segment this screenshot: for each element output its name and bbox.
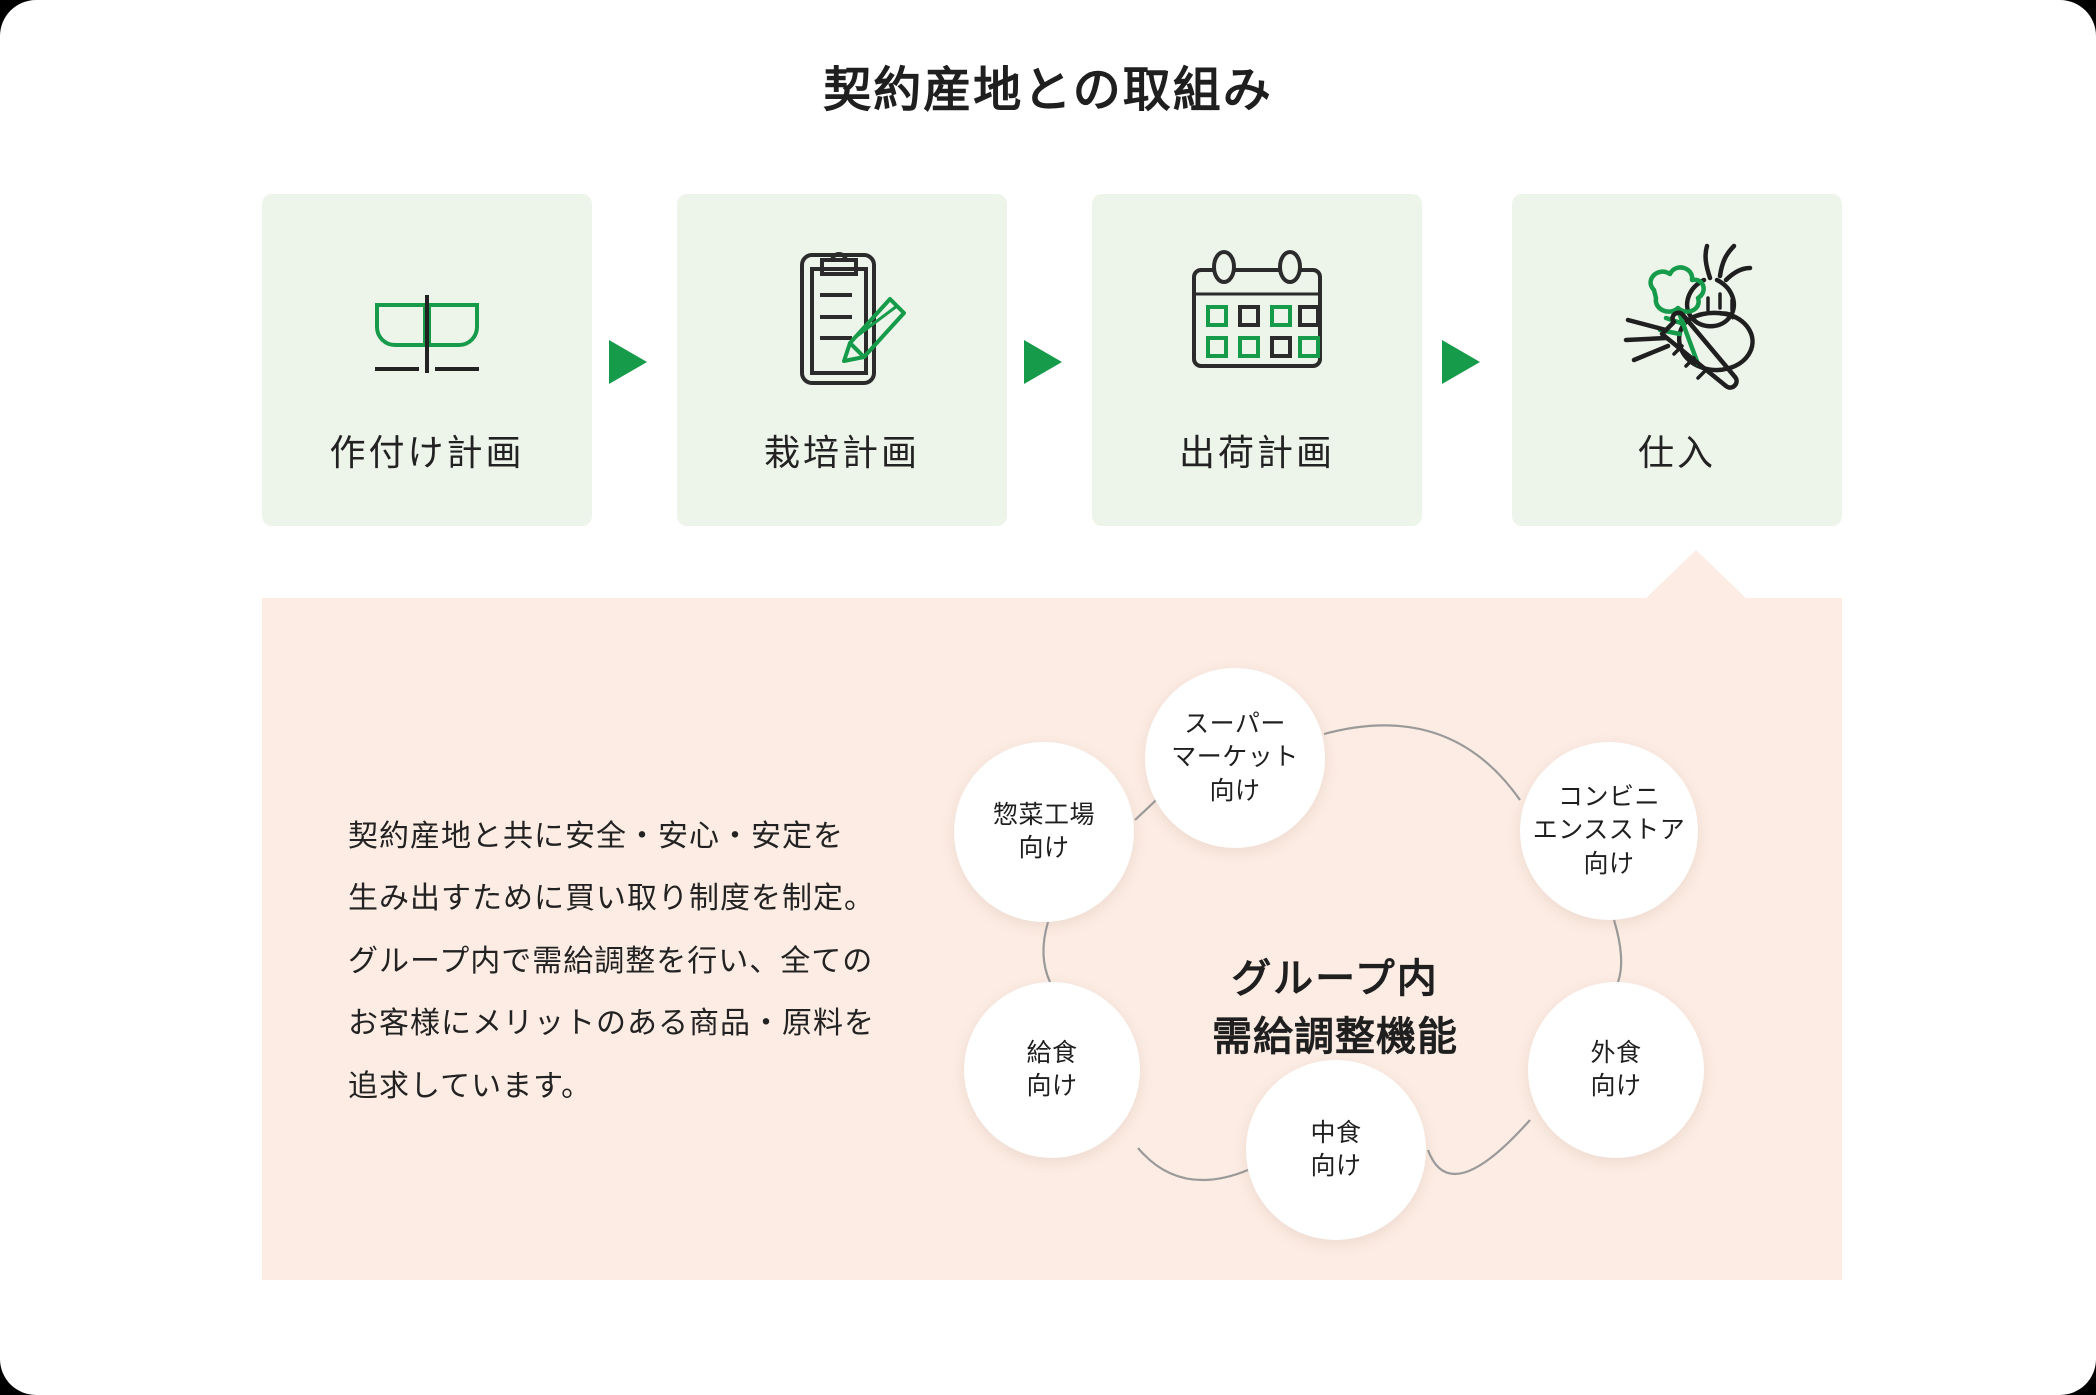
diagram-node-school-lunch[interactable]: 給食 向け bbox=[964, 982, 1140, 1158]
node-line: エンスストア bbox=[1533, 814, 1686, 848]
body-line: 契約産地と共に安全・安心・安定を bbox=[348, 806, 888, 868]
step-card-planting-plan[interactable]: 作付け計画 bbox=[262, 194, 592, 526]
node-line: スーパー bbox=[1171, 708, 1299, 742]
node-line: 給食 bbox=[1026, 1037, 1077, 1071]
node-line: 中食 bbox=[1310, 1117, 1361, 1151]
node-line: 外食 bbox=[1590, 1037, 1641, 1071]
panel-pointer-notch bbox=[1644, 550, 1748, 600]
node-line: マーケット bbox=[1171, 741, 1299, 775]
node-line: 向け bbox=[1026, 1070, 1077, 1104]
arrow-right-icon bbox=[1440, 338, 1482, 386]
diagram-node-supermarket[interactable]: スーパー マーケット 向け bbox=[1145, 668, 1325, 848]
sprout-icon bbox=[262, 238, 592, 398]
body-line: 生み出すために買い取り制度を制定。 bbox=[348, 868, 888, 930]
vegetables-icon bbox=[1512, 238, 1842, 398]
node-line: 向け bbox=[1590, 1070, 1641, 1104]
supply-demand-circle-diagram: スーパー マーケット 向け コンビニ エンスストア 向け 外食 向け 中食 向け bbox=[930, 650, 1750, 1270]
process-step-row: 作付け計画 bbox=[262, 194, 1842, 526]
diagram-node-ready-made-meal[interactable]: 中食 向け bbox=[1246, 1060, 1426, 1240]
calendar-icon bbox=[1092, 238, 1422, 398]
clipboard-pencil-icon bbox=[677, 238, 1007, 398]
node-line: 向け bbox=[1533, 848, 1686, 882]
step-card-shipping-plan[interactable]: 出荷計画 bbox=[1092, 194, 1422, 526]
step-label: 出荷計画 bbox=[1092, 424, 1422, 476]
page-title: 契約産地との取組み bbox=[0, 60, 2096, 122]
diagram-center-label: グループ内 需給調整機能 bbox=[1170, 950, 1500, 1067]
arrow-right-icon bbox=[1022, 338, 1064, 386]
arrow-right-icon bbox=[607, 338, 649, 386]
step-label: 栽培計画 bbox=[677, 424, 1007, 476]
center-label-line1: グループ内 bbox=[1170, 950, 1500, 1008]
body-line: お客様にメリットのある商品・原料を bbox=[348, 993, 888, 1055]
node-line: 向け bbox=[1171, 775, 1299, 809]
node-line: 向け bbox=[1310, 1150, 1361, 1184]
node-line: 惣菜工場 bbox=[993, 799, 1095, 833]
step-label: 仕入 bbox=[1512, 424, 1842, 476]
body-line: グループ内で需給調整を行い、全ての bbox=[348, 931, 888, 993]
center-label-line2: 需給調整機能 bbox=[1170, 1008, 1500, 1066]
body-line: 追求しています。 bbox=[348, 1056, 888, 1118]
step-label: 作付け計画 bbox=[262, 424, 592, 476]
diagram-node-deli-factory[interactable]: 惣菜工場 向け bbox=[954, 742, 1134, 922]
panel-body-text: 契約産地と共に安全・安心・安定を 生み出すために買い取り制度を制定。 グループ内… bbox=[348, 806, 888, 1118]
step-card-procurement[interactable]: 仕入 bbox=[1512, 194, 1842, 526]
diagram-node-convenience-store[interactable]: コンビニ エンスストア 向け bbox=[1520, 742, 1698, 920]
step-card-cultivation-plan[interactable]: 栽培計画 bbox=[677, 194, 1007, 526]
diagram-node-restaurant[interactable]: 外食 向け bbox=[1528, 982, 1704, 1158]
infographic-page: 契約産地との取組み 作付け計画 bbox=[0, 0, 2096, 1395]
node-line: コンビニ bbox=[1533, 781, 1686, 815]
node-line: 向け bbox=[993, 832, 1095, 866]
